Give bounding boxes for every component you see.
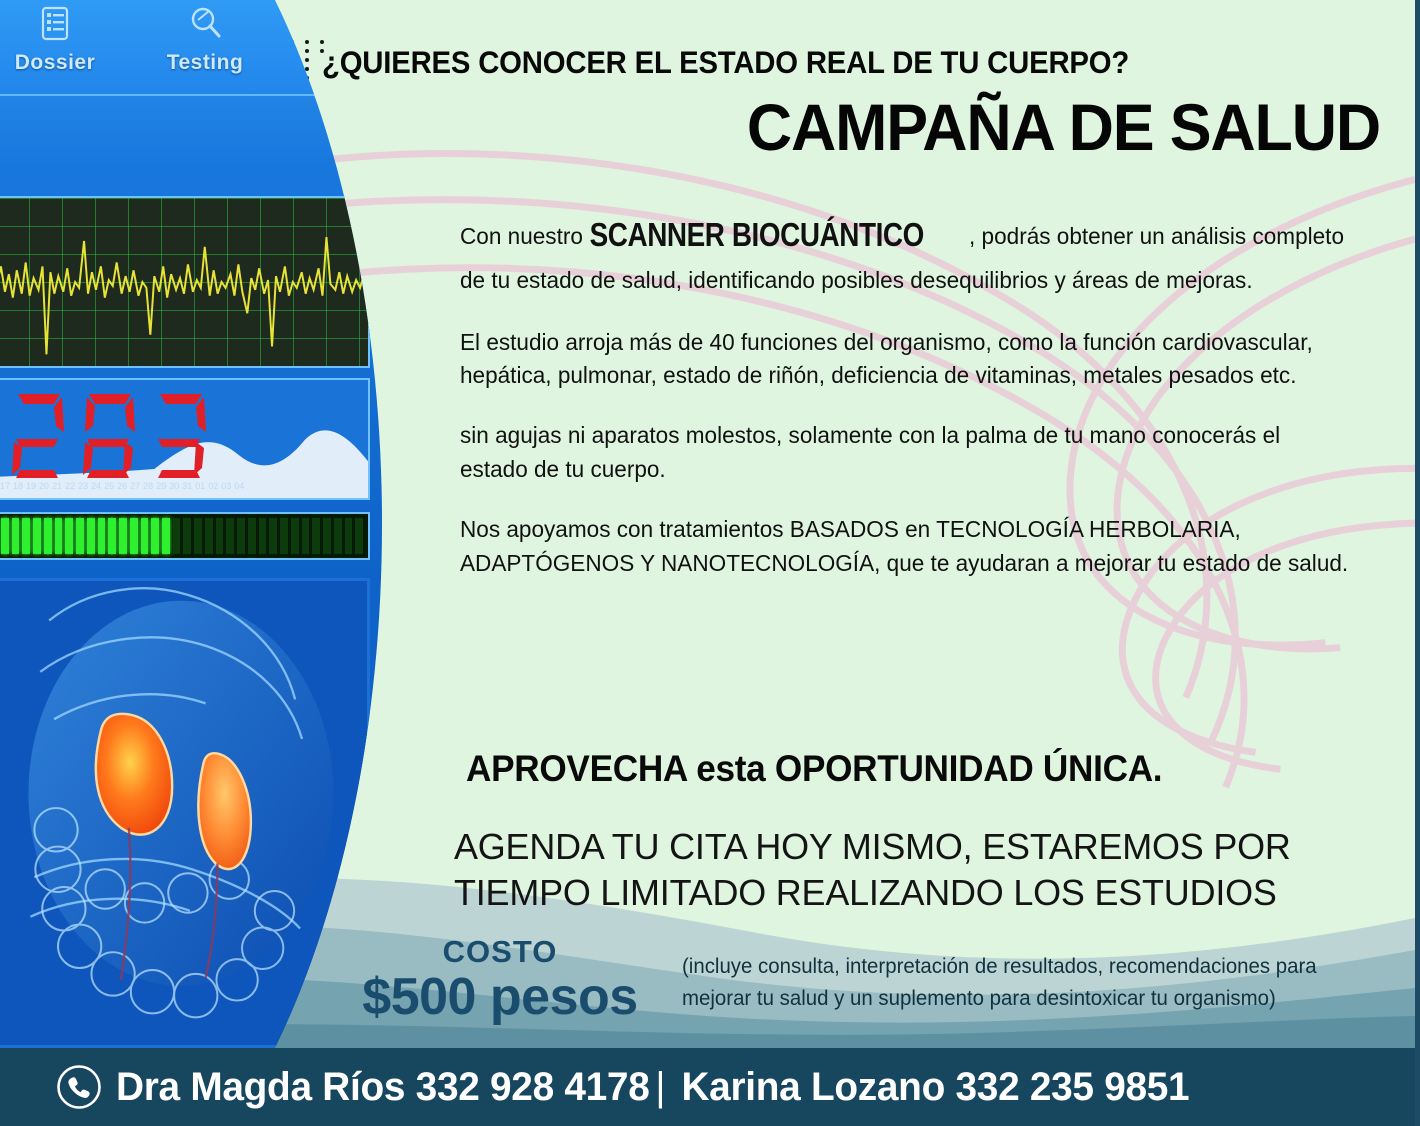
cta-aprovecha: APROVECHA esta OPORTUNIDAD ÚNICA. xyxy=(466,748,1162,790)
contact-one-name: Dra Magda Ríos xyxy=(116,1065,405,1109)
cta-agenda: AGENDA TU CITA HOY MISMO, ESTAREMOS POR … xyxy=(454,824,1385,916)
paragraph-no-needles: sin agujas ni aparatos molestos, solamen… xyxy=(460,419,1353,487)
price-block: COSTO $500 pesos xyxy=(335,936,665,1025)
health-campaign-flyer: Dossier Testing xyxy=(0,0,1420,1126)
contact-two-phone[interactable]: 332 235 9851 xyxy=(955,1065,1189,1109)
footer-contact-group: Dra Magda Ríos 332 928 4178| Karina Loza… xyxy=(56,1064,1223,1110)
price-label: COSTO xyxy=(335,936,665,967)
intro-prefix: Con nuestro xyxy=(460,223,589,249)
paragraph-functions: El estudio arroja más de 40 funciones de… xyxy=(460,326,1353,394)
phone-circle-icon xyxy=(56,1064,102,1110)
contact-separator: | xyxy=(650,1065,671,1109)
brand-name-scanner: SCANNER BIOCUÁNTICO xyxy=(589,208,923,261)
price-includes-note: (incluye consulta, interpretación de res… xyxy=(682,950,1358,1015)
contact-footer-bar: Dra Magda Ríos 332 928 4178| Karina Loza… xyxy=(0,1048,1415,1126)
flyer-content: ¿QUIERES CONOCER EL ESTADO REAL DE TU CU… xyxy=(0,0,1420,1126)
headline-kicker: ¿QUIERES CONOCER EL ESTADO REAL DE TU CU… xyxy=(322,44,1317,81)
paragraph-intro: Con nuestro SCANNER BIOCUÁNTICO, podrás … xyxy=(460,208,1353,300)
price-amount: $500 pesos xyxy=(335,969,665,1025)
contact-two-name: Karina Lozano xyxy=(681,1065,945,1109)
contact-one-phone[interactable]: 332 928 4178 xyxy=(416,1065,650,1109)
page-title: CAMPAÑA DE SALUD xyxy=(421,93,1381,162)
footer-contacts: Dra Magda Ríos 332 928 4178| Karina Loza… xyxy=(116,1065,1189,1110)
body-copy: Con nuestro SCANNER BIOCUÁNTICO, podrás … xyxy=(460,208,1390,606)
paragraph-treatments: Nos apoyamos con tratamientos BASADOS en… xyxy=(460,513,1353,581)
